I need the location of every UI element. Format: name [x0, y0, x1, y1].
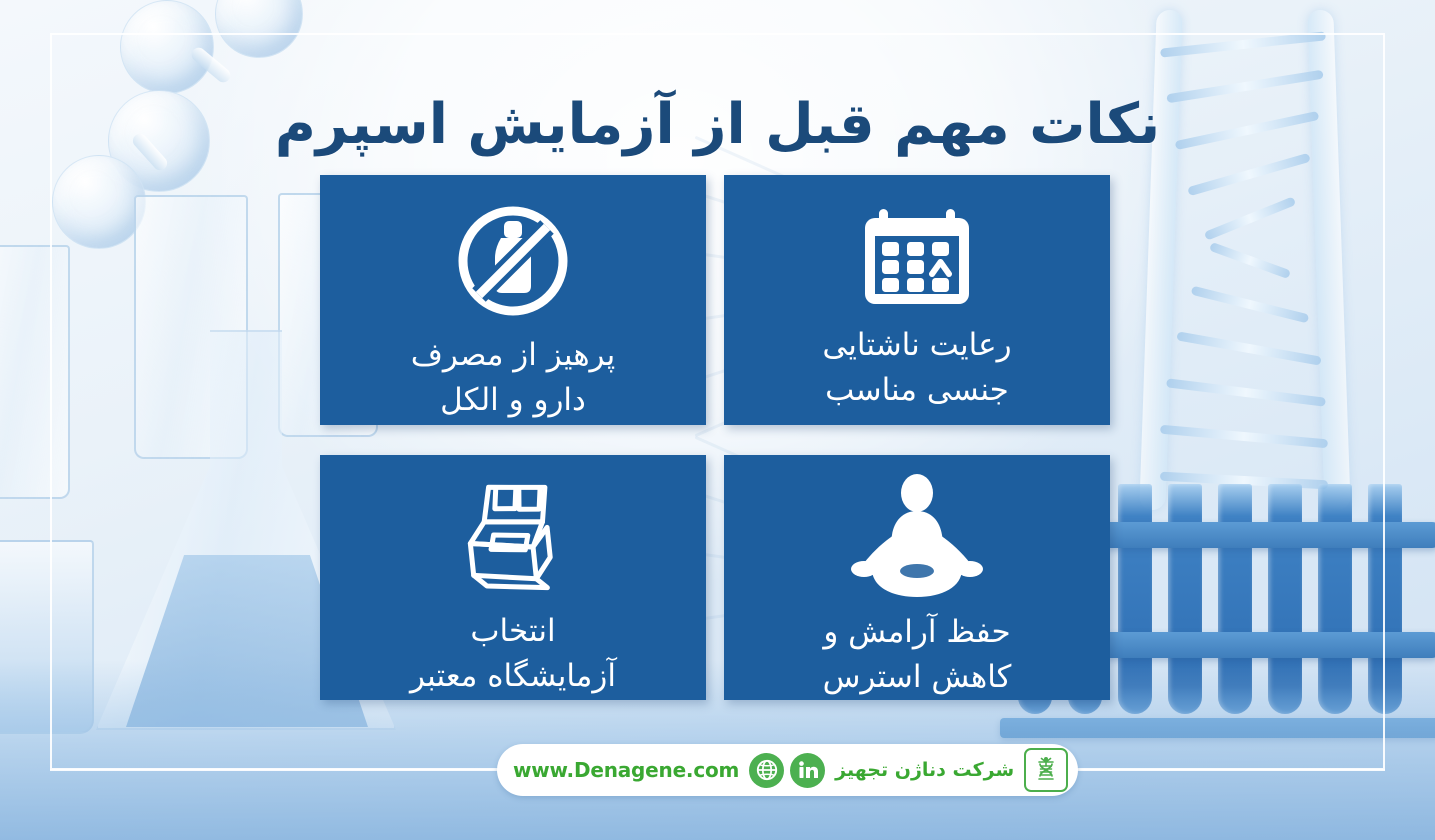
tip-line-2: کاهش استرس [823, 655, 1012, 700]
website-url[interactable]: www.Denagene.com [513, 758, 739, 782]
glass-beaker [0, 245, 70, 499]
tip-card-no-alcohol[interactable]: پرهیز از مصرف دارو و الکل [320, 175, 706, 425]
linkedin-icon[interactable] [790, 753, 825, 788]
company-name: شرکت دناژن تجهیز [835, 759, 1014, 781]
social-links [749, 753, 825, 788]
tip-card-reliable-lab[interactable]: انتخاب آزمایشگاه معتبر [320, 455, 706, 700]
dna-person-logo-icon [1024, 748, 1068, 792]
dna-helix-illustration [1120, 0, 1380, 520]
tip-line-1: حفظ آرامش و [823, 610, 1012, 655]
no-alcohol-bottle-icon [454, 197, 572, 325]
footer-bar: شرکت دناژن تجهیز www.Denagene.co [497, 744, 1078, 796]
tip-card-label: پرهیز از مصرف دارو و الکل [397, 333, 630, 423]
tip-line-2: آزمایشگاه معتبر [410, 654, 616, 699]
globe-icon[interactable] [749, 753, 784, 788]
tip-card-label: حفظ آرامش و کاهش استرس [809, 610, 1026, 700]
tip-line-1: انتخاب [410, 609, 616, 654]
tip-line-2: دارو و الکل [411, 378, 616, 423]
tip-line-1: رعایت ناشتایی [822, 323, 1011, 368]
molecule-sphere-icon [52, 155, 146, 249]
tip-card-fasting[interactable]: رعایت ناشتایی جنسی مناسب [724, 175, 1110, 425]
thermal-cycler-icon [446, 469, 580, 607]
tip-line-1: پرهیز از مصرف [411, 333, 616, 378]
tip-card-label: انتخاب آزمایشگاه معتبر [396, 609, 630, 699]
calendar-icon [861, 197, 973, 315]
tip-line-2: جنسی مناسب [822, 368, 1011, 413]
tip-card-relaxation[interactable]: حفظ آرامش و کاهش استرس [724, 455, 1110, 700]
meditation-lotus-icon [842, 469, 992, 608]
infographic-poster: نکات مهم قبل از آزمایش اسپرم [0, 0, 1435, 840]
footer-divider-left [50, 769, 498, 771]
tip-card-label: رعایت ناشتایی جنسی مناسب [808, 323, 1025, 413]
tips-grid: رعایت ناشتایی جنسی مناسب پرهیز از مصرف [320, 175, 1110, 700]
page-title: نکات مهم قبل از آزمایش اسپرم [0, 90, 1435, 160]
